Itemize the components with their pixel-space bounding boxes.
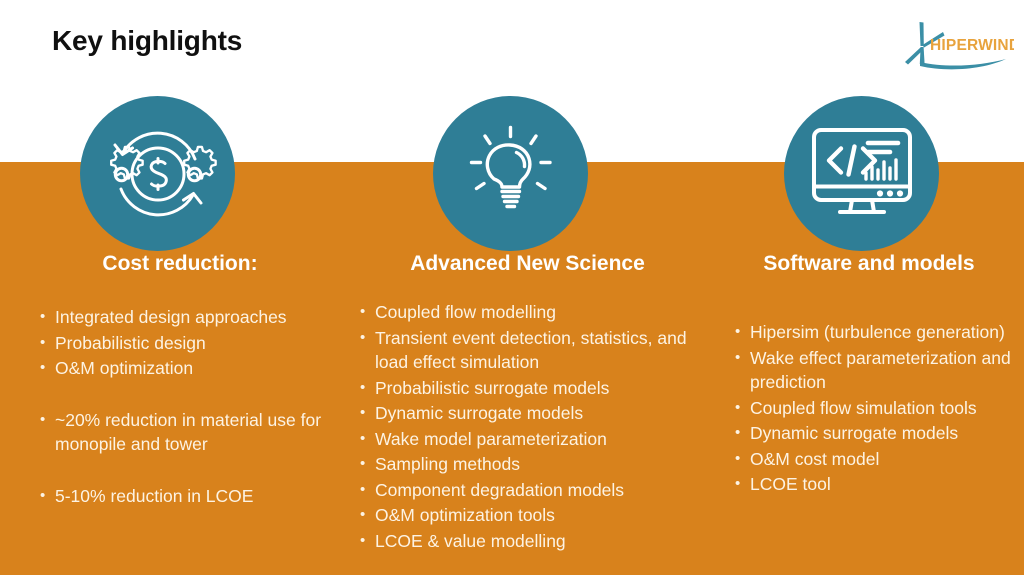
list-item: Coupled flow modelling [358,300,697,325]
list-item: LCOE & value modelling [358,529,697,554]
code-monitor-icon-circle [784,96,939,251]
list-item: Coupled flow simulation tools [733,396,1022,421]
list-item: Wake model parameterization [358,427,697,452]
column-heading-cost-reduction: Cost reduction: [14,252,344,275]
column-heading-advanced-new-science: Advanced New Science [352,252,697,275]
page-title: Key highlights [52,25,242,57]
column-heading-software-and-models: Software and models [712,252,1022,275]
slide-canvas: Key highlights HIPERWIND [0,0,1024,575]
column-advanced-new-science: Advanced New Science Coupled flow modell… [352,252,697,554]
spacer [14,275,344,305]
bullet-group-2: ~20% reduction in material use for monop… [38,408,344,457]
list-item: 5-10% reduction in LCOE [38,484,344,509]
bullet-group-3: 5-10% reduction in LCOE [38,484,344,509]
bullet-group-1: Hipersim (turbulence generation) Wake ef… [733,320,1022,497]
bullet-group-1: Integrated design approaches Probabilist… [38,305,344,381]
list-item: Transient event detection, statistics, a… [358,326,697,375]
code-monitor-icon [806,122,918,226]
hiperwind-logo: HIPERWIND [902,16,1014,72]
list-item: Sampling methods [358,452,697,477]
svg-text:HIPERWIND: HIPERWIND [930,37,1014,54]
list-item: Component degradation models [358,478,697,503]
list-item: Probabilistic surrogate models [358,376,697,401]
cost-reduction-icon [99,119,217,229]
status-dots [876,190,902,196]
list-item: O&M cost model [733,447,1022,472]
bullet-group-1: Coupled flow modelling Transient event d… [358,300,697,553]
list-item: Dynamic surrogate models [358,401,697,426]
spacer [14,458,344,484]
lightbulb-icon [461,122,561,226]
list-item: Wake effect parameterization and predict… [733,346,1022,395]
lightbulb-icon-circle [433,96,588,251]
list-item: Hipersim (turbulence generation) [733,320,1022,345]
list-item: Integrated design approaches [38,305,344,330]
column-software-and-models: Software and models Hipersim (turbulence… [712,252,1022,498]
spacer [712,275,1022,320]
list-item: LCOE tool [733,472,1022,497]
list-item: Dynamic surrogate models [733,421,1022,446]
gear-right [184,146,215,180]
list-item: Probabilistic design [38,331,344,356]
column-cost-reduction: Cost reduction: Integrated design approa… [14,252,344,509]
text-lines [868,143,898,152]
list-item: ~20% reduction in material use for monop… [38,408,344,457]
list-item: O&M optimization [38,356,344,381]
list-item: O&M optimization tools [358,503,697,528]
spacer [14,382,344,408]
cost-reduction-icon-circle [80,96,235,251]
spacer [352,275,697,300]
